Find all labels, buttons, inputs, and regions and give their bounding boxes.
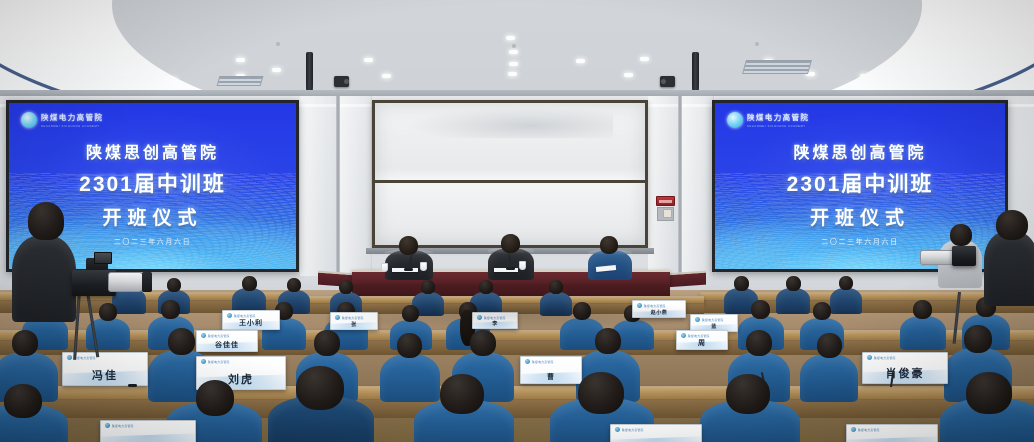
placard-name: 曹 [547,372,555,382]
downlight-icon [364,58,373,62]
placard-logo-mark-icon [615,427,620,432]
water-cup [420,262,427,271]
attendee-head [751,300,770,319]
camera-lens-hood [142,272,152,292]
downlight-icon [916,66,925,70]
placard-name: 王小利 [239,318,263,328]
name-placard: 陕煤电力高管院 [100,420,196,442]
attendee-head [12,330,38,356]
downlight-icon [640,57,649,61]
attendee-head-foreground [296,366,344,410]
attendee-body [800,354,858,402]
ceiling-air-vent [217,76,264,86]
attendee-head [913,300,932,319]
attendee-head [746,330,772,356]
screen-smudge [407,107,612,138]
wall-panel [300,96,338,286]
downlight-icon [506,36,515,40]
wall-panel [680,96,714,286]
attendee-head [168,328,195,355]
camera-telephoto-lens [108,272,144,292]
led-title-block-right: 陕煤思创高管院 2301届中训班 开班仪式 [715,139,1005,230]
name-placard: 陕煤电力高管院 曹 [520,356,582,384]
wall-mullion [678,96,682,282]
wall-switch-button-icon[interactable] [663,209,672,218]
downlight-icon [576,59,585,63]
placard-logo-mark-icon [851,427,856,432]
placard-logo-icon: 陕煤电力高管院 [201,359,230,364]
attendee-head-foreground [578,372,624,414]
placard-logo-mark-icon [867,355,872,360]
sprinkler-icon [755,42,759,46]
led-title-line1-left: 陕煤思创高管院 [9,139,296,163]
wall-switch-plate[interactable] [657,207,674,221]
placard-org: 陕煤电力高管院 [74,356,96,360]
academy-logo-name-en: SHAANMEI SICHUANG ACADEMY [747,125,809,128]
attendee-head-foreground [4,384,42,418]
photographer-head-back [950,224,972,246]
wall-mullion [336,96,340,282]
led-title-line2-right: 2301届中训班 [715,168,1005,198]
downlight-icon [509,50,518,54]
ceiling-air-vent [742,60,812,74]
projector-lens-icon [661,79,666,84]
attendee-head-foreground [726,374,770,414]
attendee-head-foreground [966,372,1012,414]
downlight-icon [382,74,391,78]
placard-logo-icon: 陕煤电力高管院 [67,355,96,360]
ambient-shadow [300,300,720,330]
attendee-head [161,300,180,319]
microphone-head-icon [410,254,413,257]
placard-logo-mark-icon [201,333,206,338]
head-table-right-wing [666,271,706,288]
attendee-head-foreground [196,380,234,416]
academy-logo-mark-icon [727,112,743,128]
attendee-head [595,328,621,354]
name-placard: 陕煤电力高管院 谷佳佳 [196,330,258,352]
attendee-head [167,278,181,292]
placard-org: 陕煤电力高管院 [532,360,554,364]
speaker-head-center [501,234,520,253]
placard-name: 刘虎 [228,371,254,387]
placard-org: 陕煤电力高管院 [874,356,896,360]
attendee-head [314,330,340,356]
attendee-head-foreground [440,374,484,414]
academy-logo-left: 陕煤电力高管院 SHAANMEI SICHUANG ACADEMY [21,112,103,128]
camera-monitor-screen [94,252,112,264]
water-cup [519,261,526,270]
downlight-icon [860,74,869,78]
attendee-head [964,325,992,353]
fire-alarm-label-strip [659,200,672,203]
downlight-icon [624,73,633,77]
placard-logo-mark-icon [201,359,206,364]
placard-logo-mark-icon [67,355,72,360]
placard-logo-mark-icon [227,313,232,318]
downlight-icon [508,72,517,76]
camera-telephoto-lens [920,250,954,265]
name-placard: 陕煤电力高管院 周 [676,330,728,350]
attendee-body [380,354,440,402]
attendee-head [421,280,435,294]
placard-org: 陕煤电力高管院 [208,360,230,364]
placard-logo-mark-icon [525,359,530,364]
name-placard: 陕煤电力高管院 肖俊豪 [862,352,948,384]
led-title-line2-left: 2301届中训班 [9,168,296,198]
camera-body [952,246,976,266]
placard-logo-icon: 陕煤电力高管院 [201,333,230,338]
desk-front-panel [0,400,1034,418]
name-placard: 陕煤电力高管院 [846,424,938,442]
conference-hall-photo: 陕煤电力高管院 SHAANMEI SICHUANG ACADEMY 陕煤思创高管… [0,0,1034,442]
placard-name: 蓝 [711,323,717,330]
academy-logo-name-en: SHAANMEI SICHUANG ACADEMY [41,125,103,128]
attendee-body [830,288,862,314]
placard-org: 陕煤电力高管院 [622,428,644,432]
placard-logo-icon: 陕煤电力高管院 [615,427,644,432]
attendee-body [776,288,810,314]
attendee-head [839,276,853,290]
attendee-head [549,280,563,294]
placard-logo-mark-icon [681,333,686,338]
academy-logo-name-cn: 陕煤电力高管院 [41,112,103,123]
placard-name: 冯佳 [92,367,118,383]
projection-screen-center [372,100,648,248]
attendee-head [99,303,117,321]
placard-name: 谷佳佳 [215,340,239,350]
attendee-head [479,280,493,294]
led-title-line1-right: 陕煤思创高管院 [715,139,1005,163]
attendee-head [397,333,422,358]
placard-logo-icon: 陕煤电力高管院 [867,355,896,360]
microphone-head-icon [508,253,511,256]
ceiling-projector-right [660,76,675,87]
water-cup [381,263,388,272]
photographer-head-front [996,210,1028,240]
academy-logo-name-cn: 陕煤电力高管院 [747,112,809,123]
videographer-body [12,236,76,322]
academy-logo-right: 陕煤电力高管院 SHAANMEI SICHUANG ACADEMY [727,112,809,128]
attendee-head [339,280,353,294]
placard-logo-mark-icon [105,423,110,428]
ceiling-projector-left [334,76,349,87]
fire-alarm-icon[interactable] [656,196,675,206]
attendee-head [786,276,801,291]
videographer-head [28,202,64,240]
attendee-head [734,276,749,291]
placard-logo-icon: 陕煤电力高管院 [851,427,880,432]
ceiling [0,0,1034,98]
attendee-head [470,330,496,356]
downlight-icon [168,78,177,82]
wall-panel [648,96,680,286]
speaker-head-left [399,236,418,255]
screen-divider-rail [375,180,645,183]
attendee-head [817,333,842,358]
attendee-head [287,278,301,292]
microphone-base [128,384,137,387]
wall-panel [338,96,372,286]
attendee-head [813,302,831,320]
placard-logo-icon: 陕煤电力高管院 [525,359,554,364]
placard-org: 陕煤电力高管院 [112,424,134,428]
placard-logo-icon: 陕煤电力高管院 [105,423,134,428]
sprinkler-icon [276,42,280,46]
sprinkler-icon [512,44,516,48]
speaker-head-right [600,236,618,254]
downlight-icon [272,68,281,72]
projector-lens-icon [344,79,349,84]
academy-logo-mark-icon [21,112,37,128]
downlight-icon [509,62,518,66]
placard-org: 陕煤电力高管院 [234,314,256,318]
placard-org: 陕煤电力高管院 [688,334,710,338]
placard-org: 陕煤电力高管院 [858,428,880,432]
placard-name: 周 [698,338,706,348]
attendee-head [242,276,257,291]
downlight-icon [236,58,245,62]
placard-org: 陕煤电力高管院 [208,334,230,338]
name-placard: 陕煤电力高管院 王小利 [222,310,280,330]
downlight-icon [118,70,127,74]
attendee-body [900,316,946,350]
name-placard: 陕煤电力高管院 [610,424,702,442]
photographer-body-front [984,232,1034,306]
